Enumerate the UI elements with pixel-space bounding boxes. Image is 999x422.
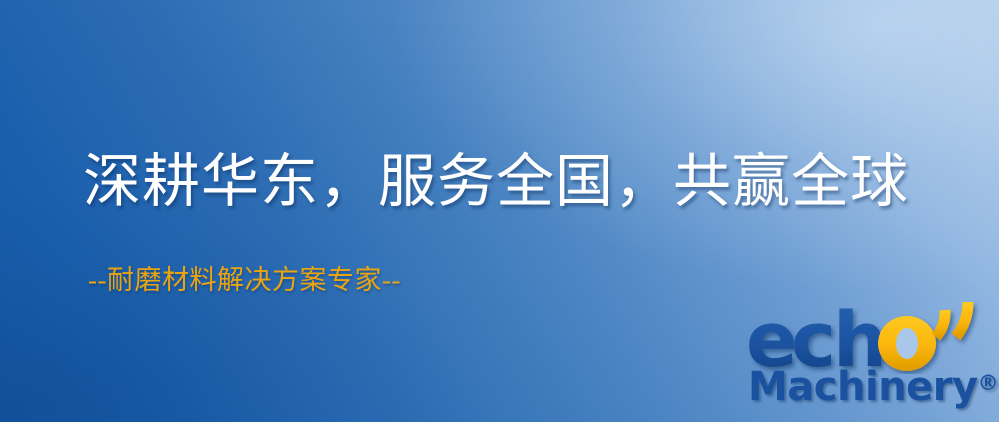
logo-letter-c: c (791, 296, 836, 374)
echo-ring-icon (878, 316, 936, 371)
logo-letter-e: e (746, 296, 798, 374)
hero-banner: 深耕华东，服务全国，共赢全球 --耐磨材料解决方案专家-- (0, 0, 999, 422)
logo-letter-h: h (833, 296, 887, 374)
logo-machinery-wordmark: Machinery® (748, 364, 999, 410)
page-title: 深耕华东，服务全国，共赢全球 (83, 152, 909, 213)
registered-trademark-icon: ® (978, 371, 999, 395)
signal-waves-icon (936, 302, 968, 337)
logo-echo-wordmark: e c h (744, 296, 996, 374)
company-logo[interactable]: e c h Machinery® (744, 294, 996, 422)
page-subtitle: --耐磨材料解决方案专家-- (88, 266, 401, 296)
logo-machinery-text: Machinery (748, 364, 978, 410)
